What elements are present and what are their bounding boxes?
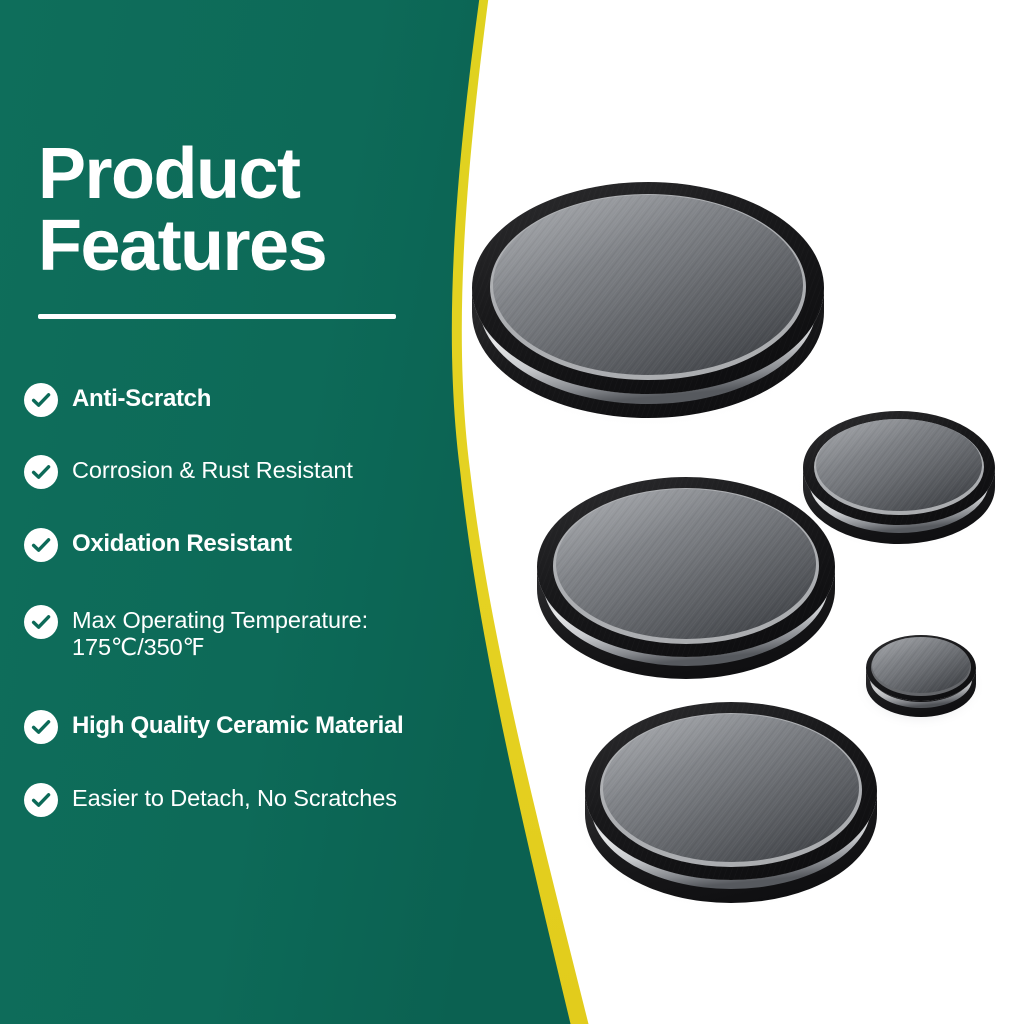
title-divider	[38, 314, 396, 319]
feature-item-high-quality-ceramic-material: High Quality Ceramic Material	[24, 709, 494, 744]
feature-label: Oxidation Resistant	[72, 527, 292, 558]
feature-label: Corrosion & Rust Resistant	[72, 454, 353, 484]
feature-item-corrosion-rust-resistant: Corrosion & Rust Resistant	[24, 454, 494, 489]
check-circle-icon	[24, 783, 58, 817]
features-panel: Product Features Anti-Scratch Corrosion …	[0, 0, 500, 1024]
check-circle-icon	[24, 710, 58, 744]
feature-label-secondary: 175℃/350℉	[72, 634, 205, 660]
feature-item-anti-scratch: Anti-Scratch	[24, 382, 494, 417]
feature-item-max-operating-temperature: Max Operating Temperature: 175℃/350℉	[24, 604, 494, 662]
feature-item-easier-to-detach: Easier to Detach, No Scratches	[24, 782, 494, 817]
check-circle-icon	[24, 528, 58, 562]
check-circle-icon	[24, 455, 58, 489]
title-line-1: Product	[38, 140, 458, 208]
feature-label: Max Operating Temperature:	[72, 607, 368, 633]
feature-label: Easier to Detach, No Scratches	[72, 782, 397, 812]
feature-item-oxidation-resistant: Oxidation Resistant	[24, 527, 494, 562]
title-line-2: Features	[38, 212, 458, 280]
feature-label: Anti-Scratch	[72, 382, 211, 413]
check-circle-icon	[24, 605, 58, 639]
infographic-canvas: Product Features Anti-Scratch Corrosion …	[0, 0, 1024, 1024]
check-circle-icon	[24, 383, 58, 417]
feature-label: High Quality Ceramic Material	[72, 709, 403, 740]
page-title: Product Features	[38, 140, 458, 281]
